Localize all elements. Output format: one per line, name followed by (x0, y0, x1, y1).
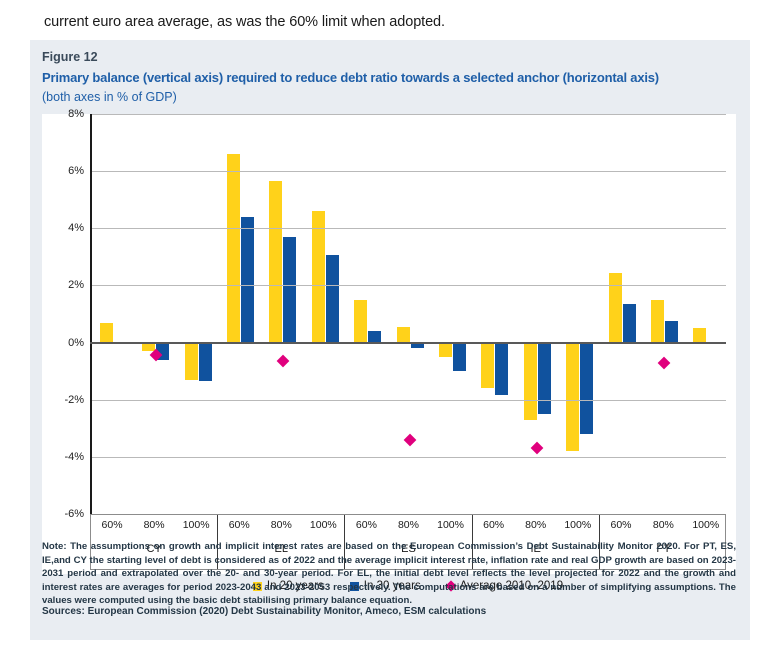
intro-paragraph: current euro area average, as was the 60… (44, 14, 744, 30)
bar-pt-100-20y (693, 328, 706, 342)
bar-ie-100-30y (580, 343, 593, 434)
x-axis-anchor-ticks: 60%80%100% (345, 519, 471, 541)
gridline (92, 114, 726, 115)
x-axis-tick-label: 80% (133, 519, 175, 541)
figure-subtitle: (both axes in % of GDP) (42, 90, 177, 104)
average-marker-es (404, 433, 417, 446)
bar-es-100-30y (453, 343, 466, 372)
figure-number: Figure 12 (42, 50, 98, 64)
x-axis-tick-label: 100% (430, 519, 472, 541)
x-axis-tick-label: 80% (387, 519, 429, 541)
gridline (92, 457, 726, 458)
y-axis-tick-label: 2% (68, 279, 84, 291)
x-axis-tick-label: 60% (345, 519, 387, 541)
plot-canvas (90, 114, 726, 514)
chart-card: 8%6%4%2%0%-2%-4%-6% 60%80%100%CY60%80%10… (42, 114, 736, 574)
bar-ie-60-30y (495, 343, 508, 396)
x-axis-tick-label: 80% (260, 519, 302, 541)
bar-el-80-30y (283, 237, 296, 343)
x-axis-anchor-ticks: 60%80%100% (91, 519, 217, 541)
bar-el-100-20y (312, 211, 325, 342)
gridline (92, 400, 726, 401)
x-axis-tick-label: 100% (685, 519, 727, 541)
y-axis-tick-label: -4% (64, 451, 84, 463)
x-axis-tick-label: 60% (91, 519, 133, 541)
x-axis-tick-label: 80% (642, 519, 684, 541)
bar-es-60-20y (354, 300, 367, 343)
y-axis-tick-label: 0% (68, 337, 84, 349)
x-axis-tick-label: 100% (175, 519, 217, 541)
bar-pt-60-30y (623, 304, 636, 343)
y-axis-tick-label: 6% (68, 165, 84, 177)
bars-layer (92, 114, 726, 514)
x-axis-tick-label: 100% (302, 519, 344, 541)
bar-es-100-20y (439, 343, 452, 357)
bar-el-60-30y (241, 217, 254, 343)
y-axis-tick-label: -6% (64, 508, 84, 520)
figure-panel: Figure 12 Primary balance (vertical axis… (30, 40, 750, 640)
figure-page: current euro area average, as was the 60… (0, 0, 780, 652)
bar-pt-60-20y (609, 273, 622, 343)
figure-notes: Note: The assumptions on growth and impl… (42, 540, 736, 608)
y-axis-tick-label: 4% (68, 222, 84, 234)
x-axis-tick-label: 60% (600, 519, 642, 541)
x-axis-anchor-ticks: 60%80%100% (600, 519, 727, 541)
bar-el-60-20y (227, 154, 240, 343)
bar-ie-80-20y (524, 343, 537, 420)
gridline (92, 171, 726, 172)
average-marker-el (276, 355, 289, 368)
x-axis-tick-label: 100% (557, 519, 599, 541)
figure-sources: Sources: European Commission (2020) Debt… (42, 606, 736, 617)
bar-ie-60-20y (481, 343, 494, 389)
plot-area: 8%6%4%2%0%-2%-4%-6% (42, 114, 736, 514)
bar-pt-80-20y (651, 300, 664, 343)
average-marker-pt (658, 356, 671, 369)
y-axis-labels: 8%6%4%2%0%-2%-4%-6% (42, 114, 88, 514)
average-marker-ie (531, 442, 544, 455)
bar-cy-100-20y (185, 343, 198, 380)
x-axis-anchor-ticks: 60%80%100% (218, 519, 344, 541)
x-axis-tick-label: 80% (515, 519, 557, 541)
figure-title: Primary balance (vertical axis) required… (42, 70, 742, 85)
x-axis-anchor-ticks: 60%80%100% (473, 519, 599, 541)
x-axis-tick-label: 60% (473, 519, 515, 541)
bar-ie-80-30y (538, 343, 551, 414)
bar-el-80-20y (269, 181, 282, 342)
bar-ie-100-20y (566, 343, 579, 452)
gridline (92, 228, 726, 229)
y-axis-tick-label: -2% (64, 394, 84, 406)
bar-es-80-20y (397, 327, 410, 343)
x-axis-tick-label: 60% (218, 519, 260, 541)
bar-cy-100-30y (199, 343, 212, 382)
gridline (92, 285, 726, 286)
bar-cy-60-20y (100, 323, 113, 343)
bar-pt-80-30y (665, 321, 678, 342)
zero-line (90, 342, 726, 344)
bar-el-100-30y (326, 255, 339, 342)
y-axis-tick-label: 8% (68, 108, 84, 120)
